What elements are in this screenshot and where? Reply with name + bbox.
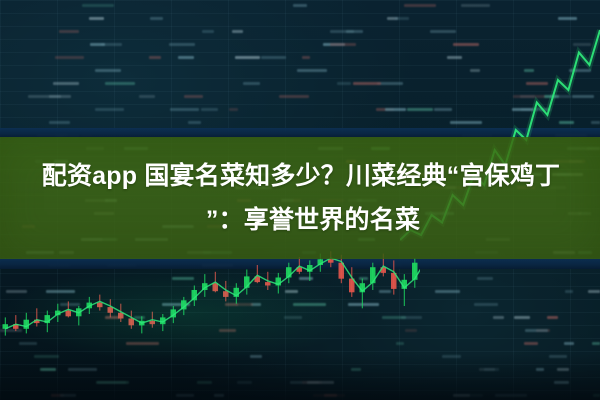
candlestick-chart <box>0 246 420 366</box>
candlestick-svg <box>0 246 420 366</box>
headline-band <box>0 137 600 259</box>
article-cover-image: 配资app 国宴名菜知多少？川菜经典“宫保鸡丁 ”：享誉世界的名菜 <box>0 0 600 400</box>
